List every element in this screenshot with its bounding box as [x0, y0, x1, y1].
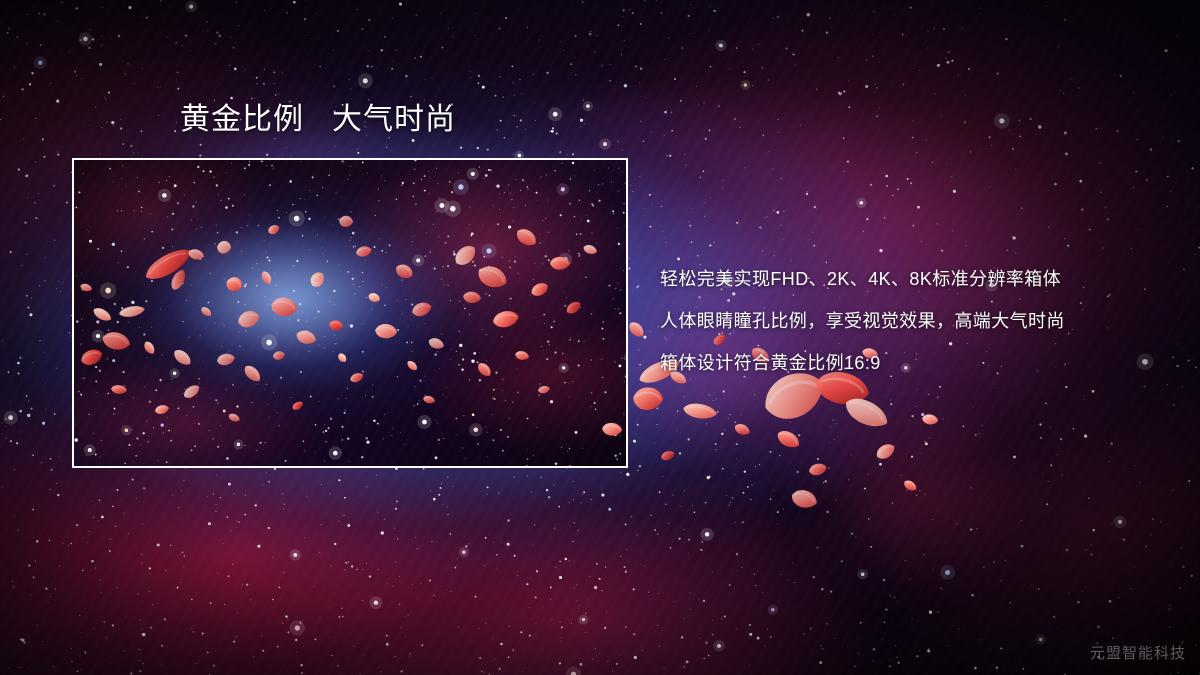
- presentation-slide: 黄金比例 大气时尚 轻松完美实现FHD、2K、4K、8K标准分辨率箱体 人体眼睛…: [0, 0, 1200, 675]
- watermark: 元盟智能科技: [1090, 642, 1186, 663]
- page-title: 黄金比例 大气时尚: [180, 101, 456, 139]
- photo-frame: [72, 158, 628, 468]
- body-copy-line-1: 轻松完美实现FHD、2K、4K、8K标准分辨率箱体: [660, 258, 1180, 300]
- body-copy-line-2: 人体眼睛瞳孔比例，享受视觉效果，高端大气时尚: [660, 300, 1180, 342]
- body-copy-block: 轻松完美实现FHD、2K、4K、8K标准分辨率箱体 人体眼睛瞳孔比例，享受视觉效…: [660, 258, 1180, 384]
- photo-petals-group: [74, 160, 628, 468]
- body-copy-line-3: 箱体设计符合黄金比例16:9: [660, 342, 1180, 384]
